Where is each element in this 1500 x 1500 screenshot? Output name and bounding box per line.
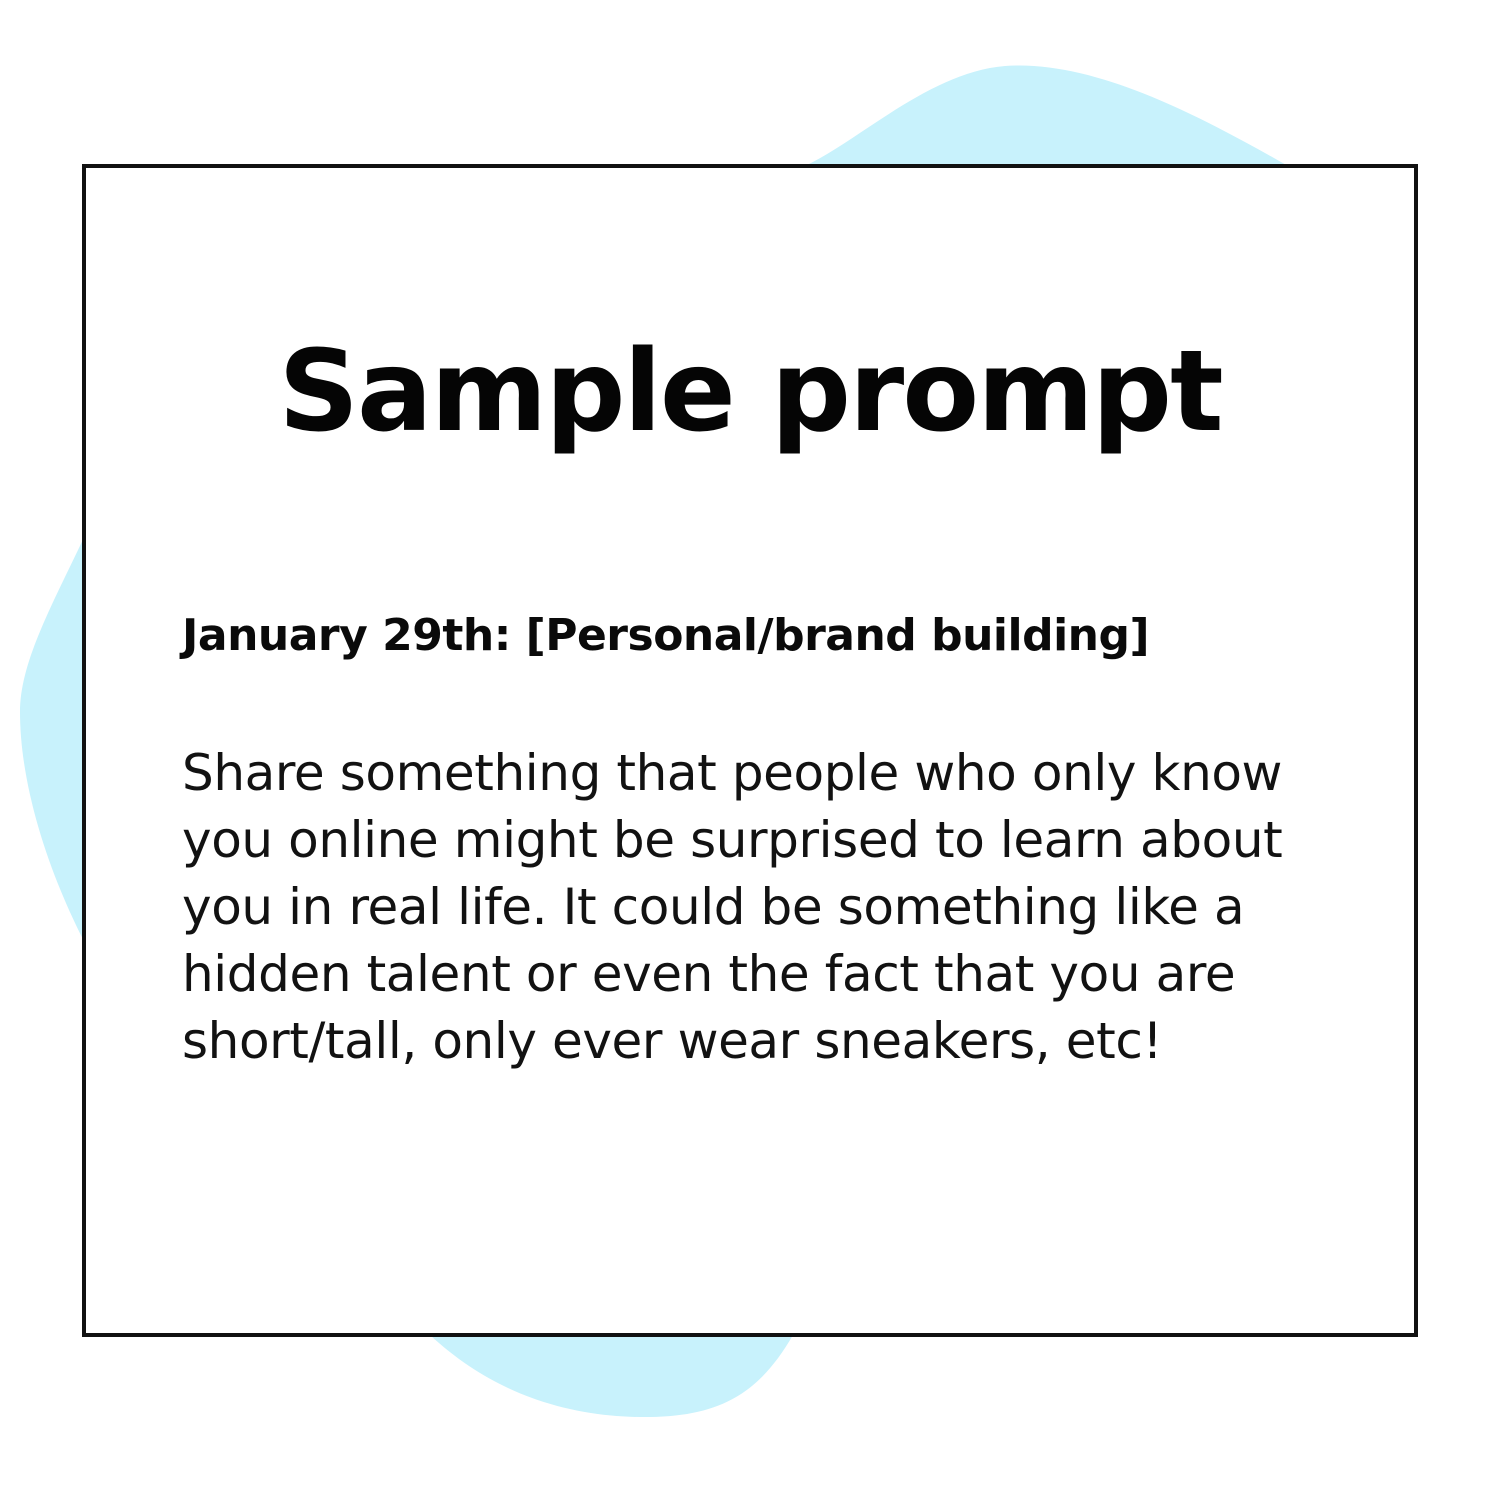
card-content: Sample prompt January 29th: [Personal/br…: [182, 168, 1318, 1333]
prompt-body-text: Share something that people who only kno…: [182, 740, 1324, 1075]
page-title: Sample prompt: [182, 336, 1318, 448]
slide-canvas: Sample prompt January 29th: [Personal/br…: [0, 0, 1500, 1500]
prompt-card: Sample prompt January 29th: [Personal/br…: [82, 164, 1418, 1337]
left-lobe: [20, 533, 86, 945]
bottom-lobe: [430, 1335, 793, 1417]
top-right-lobe: [805, 66, 1288, 166]
prompt-date-heading: January 29th: [Personal/brand building]: [182, 610, 1318, 661]
